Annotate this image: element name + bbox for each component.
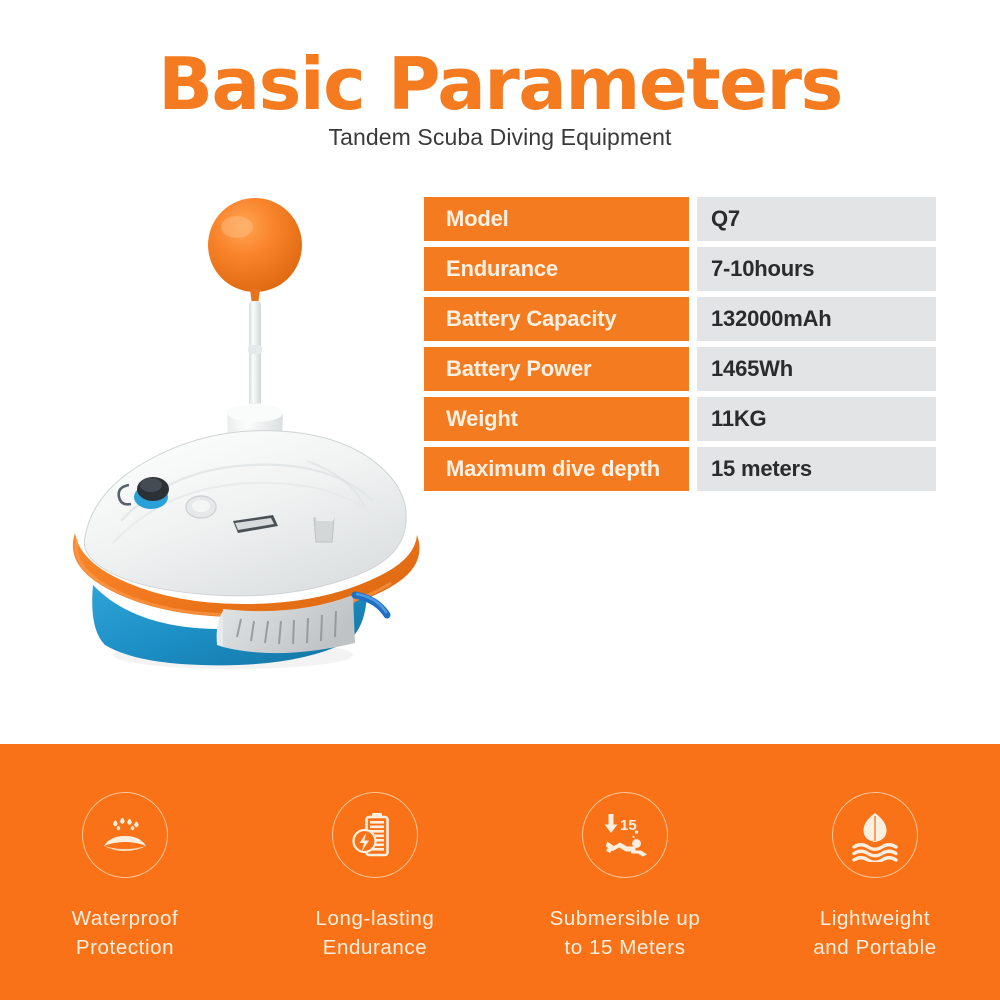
spec-value: 15 meters: [697, 447, 936, 491]
table-row: Maximum dive depth 15 meters: [424, 447, 936, 491]
table-row: Model Q7: [424, 197, 936, 241]
feature-label: Submersible up to 15 Meters: [550, 904, 701, 962]
product-top-shell: [84, 431, 406, 596]
spec-label: Weight: [424, 397, 689, 441]
spec-label: Battery Power: [424, 347, 689, 391]
spec-label: Model: [424, 197, 689, 241]
feature-item-lightweight: Lightweight and Portable: [750, 744, 1000, 1000]
spec-label: Battery Capacity: [424, 297, 689, 341]
feature-label: Waterproof Protection: [72, 904, 179, 962]
page-subtitle: Tandem Scuba Diving Equipment: [0, 124, 1000, 151]
table-row: Endurance 7-10hours: [424, 247, 936, 291]
antenna-mast: [249, 301, 261, 411]
feature-item-endurance: Long-lasting Endurance: [250, 744, 500, 1000]
cell-divider: [689, 447, 697, 491]
spec-label: Endurance: [424, 247, 689, 291]
feature-label: Long-lasting Endurance: [316, 904, 435, 962]
cell-divider: [689, 347, 697, 391]
table-row: Battery Power 1465Wh: [424, 347, 936, 391]
cell-divider: [689, 197, 697, 241]
spec-value: Q7: [697, 197, 936, 241]
product-image: [55, 185, 425, 685]
battery-bolt-icon: [332, 792, 418, 878]
diver-depth-icon: 15: [582, 792, 668, 878]
inflation-nozzle: [314, 518, 334, 542]
table-row: Weight 11KG: [424, 397, 936, 441]
feature-item-waterproof: Waterproof Protection: [0, 744, 250, 1000]
spec-value: 132000mAh: [697, 297, 936, 341]
page-title: Basic Parameters: [0, 48, 1000, 120]
cell-divider: [689, 297, 697, 341]
cell-divider: [689, 397, 697, 441]
waterproof-icon: [82, 792, 168, 878]
header: Basic Parameters Tandem Scuba Diving Equ…: [0, 0, 1000, 175]
spec-value: 7-10hours: [697, 247, 936, 291]
feature-list: Waterproof Protection: [0, 744, 1000, 1000]
cell-divider: [689, 247, 697, 291]
leaf-waves-icon: [832, 792, 918, 878]
spec-value: 1465Wh: [697, 347, 936, 391]
spec-label: Maximum dive depth: [424, 447, 689, 491]
table-row: Battery Capacity 132000mAh: [424, 297, 936, 341]
spec-table: Model Q7 Endurance 7-10hours Battery Cap…: [424, 197, 936, 497]
feature-banner: Waterproof Protection: [0, 744, 1000, 1000]
feature-label: Lightweight and Portable: [813, 904, 936, 962]
spec-value: 11KG: [697, 397, 936, 441]
feature-item-submersible: 15 Submersible up to 15 Meters: [500, 744, 750, 1000]
depth-value: 15: [620, 817, 637, 834]
float-ball-icon: [208, 198, 302, 292]
